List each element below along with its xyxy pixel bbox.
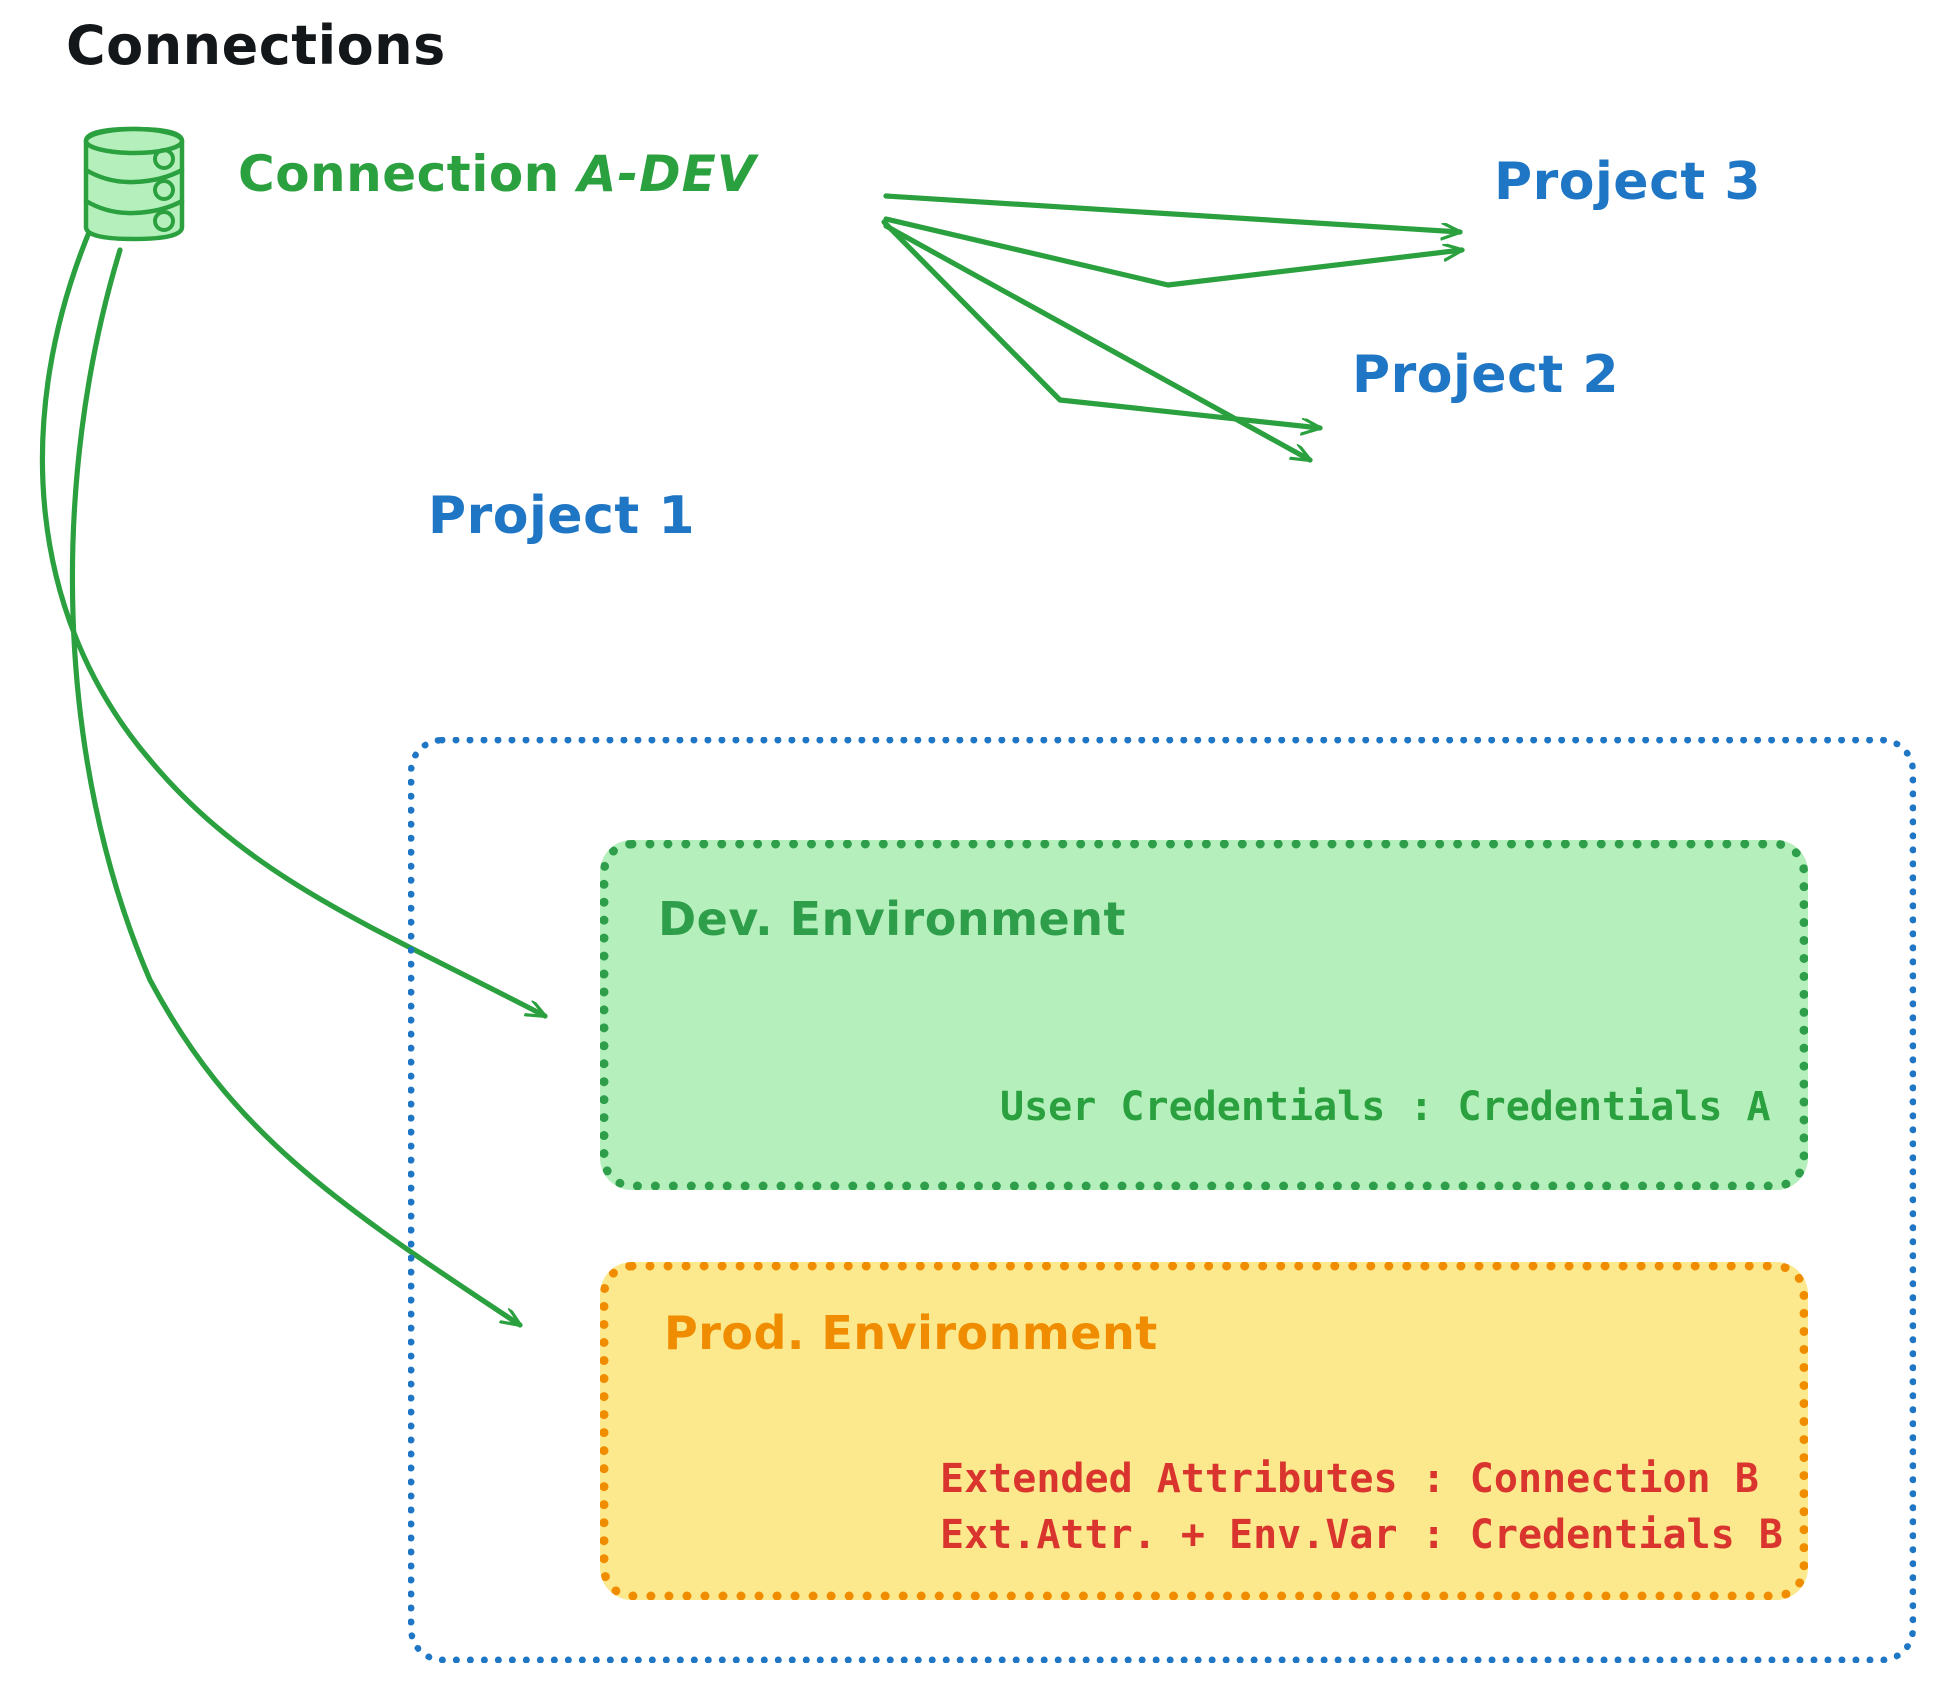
node-label-project-2: Project 2 (1352, 345, 1619, 405)
prod-environment-title: Prod. Environment (664, 1306, 1158, 1360)
prod-environment-credentials-line: Ext.Attr. + Env.Var : Credentials B (940, 1512, 1783, 1558)
dev-environment-credentials-line: User Credentials : Credentials A (1000, 1084, 1771, 1130)
connection-label-suffix: A-DEV (578, 145, 757, 203)
dev-environment-title: Dev. Environment (658, 892, 1126, 946)
edges-to-project3 (886, 196, 1462, 285)
node-label-connection-a-dev: Connection A-DEV (238, 145, 757, 203)
node-label-project-3: Project 3 (1494, 152, 1761, 212)
edges-to-project2 (884, 222, 1320, 460)
database-icon (78, 123, 190, 243)
page-title: Connections (66, 14, 446, 77)
connection-label-prefix: Connection (238, 145, 578, 203)
diagram-canvas: Connections Connection A-DEV Project 3 P… (0, 0, 1938, 1691)
node-label-project-1: Project 1 (428, 486, 695, 546)
prod-environment-attributes-line: Extended Attributes : Connection B (940, 1456, 1759, 1502)
